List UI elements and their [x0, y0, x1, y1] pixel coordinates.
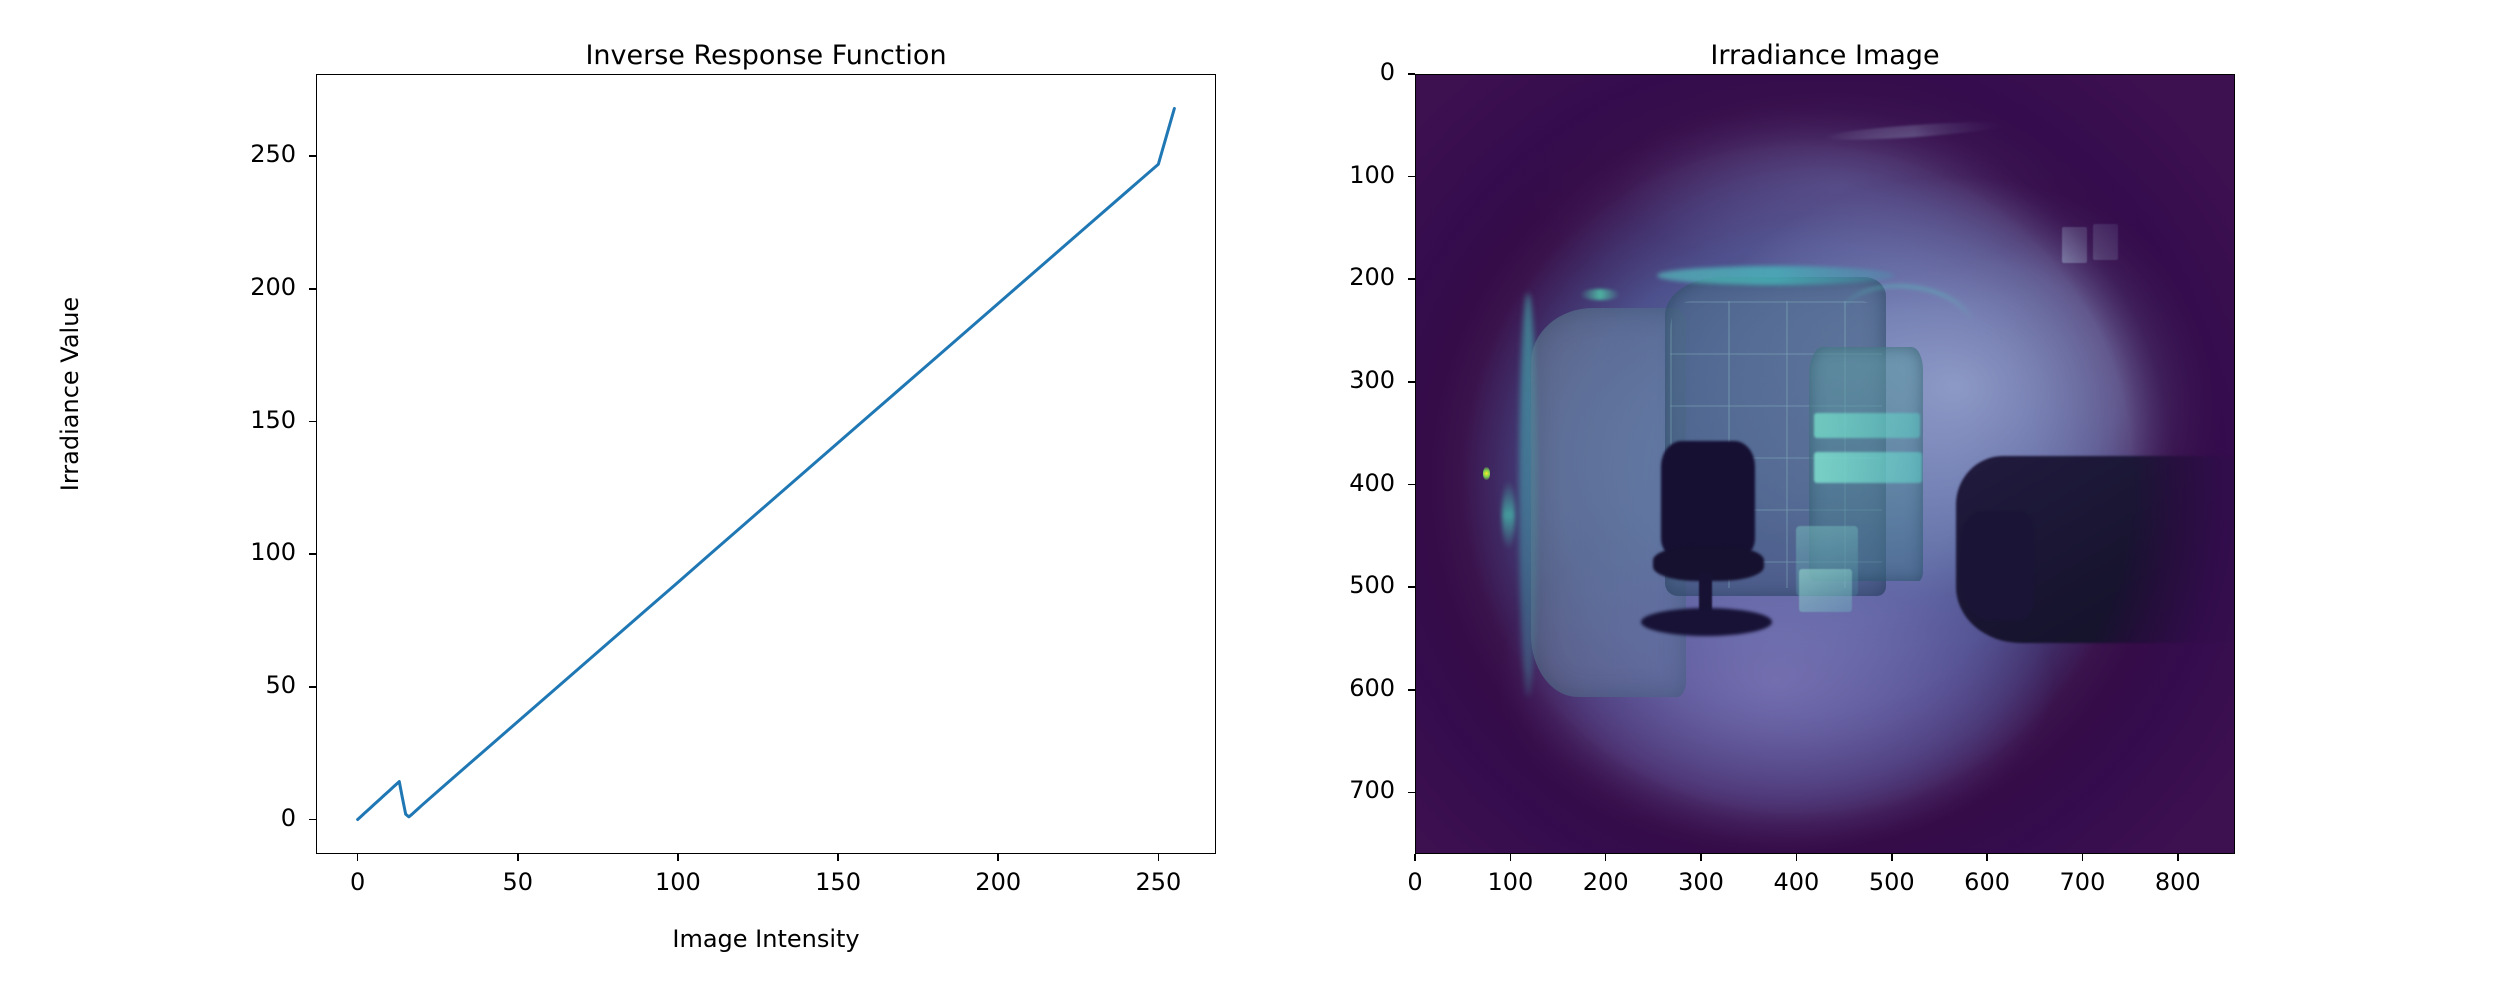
- right-x-tickmark: [1986, 854, 1988, 861]
- right-y-tick: 500: [1285, 571, 1395, 599]
- inverse-response-line-chart: [316, 74, 1216, 854]
- left-x-tickmark: [677, 854, 679, 861]
- right-y-tickmark: [1408, 73, 1415, 75]
- left-x-tick: 100: [618, 868, 738, 896]
- right-y-tick: 100: [1285, 161, 1395, 189]
- matplotlib-figure: Inverse Response Function Image Intensit…: [0, 0, 2514, 986]
- response-curve-line: [358, 108, 1175, 819]
- left-y-tickmark: [309, 686, 316, 688]
- irradiance-image-axes: [1415, 74, 2235, 854]
- left-x-tick: 250: [1098, 868, 1218, 896]
- right-y-tick: 400: [1285, 469, 1395, 497]
- left-y-tickmark: [309, 155, 316, 157]
- left-x-tickmark: [357, 854, 359, 861]
- left-y-tick: 150: [186, 406, 296, 434]
- left-x-tickmark: [517, 854, 519, 861]
- left-x-tick: 0: [298, 868, 418, 896]
- right-x-tickmark: [1891, 854, 1893, 861]
- left-x-tickmark: [837, 854, 839, 861]
- left-x-tick: 200: [938, 868, 1058, 896]
- left-y-tick: 200: [186, 273, 296, 301]
- left-y-tick: 100: [186, 538, 296, 566]
- right-y-tick: 200: [1285, 263, 1395, 291]
- right-y-tickmark: [1408, 381, 1415, 383]
- right-y-tickmark: [1408, 792, 1415, 794]
- right-y-tick: 0: [1285, 58, 1395, 86]
- left-y-tickmark: [309, 553, 316, 555]
- right-y-tick: 700: [1285, 776, 1395, 804]
- right-panel-title: Irradiance Image: [1415, 40, 2235, 71]
- left-x-tick: 150: [778, 868, 898, 896]
- left-x-tickmark: [997, 854, 999, 861]
- right-y-tickmark: [1408, 484, 1415, 486]
- left-y-tickmark: [309, 288, 316, 290]
- left-panel-title: Inverse Response Function: [316, 40, 1216, 71]
- left-y-tickmark: [309, 819, 316, 821]
- left-x-axis-label: Image Intensity: [316, 925, 1216, 953]
- right-x-tickmark: [1510, 854, 1512, 861]
- left-y-tick: 250: [186, 140, 296, 168]
- irradiance-image: [1415, 74, 2235, 854]
- left-y-axis-label: Irradiance Value: [56, 264, 84, 524]
- left-y-tickmark: [309, 421, 316, 423]
- left-y-tick: 0: [186, 804, 296, 832]
- right-y-tickmark: [1408, 689, 1415, 691]
- right-x-tickmark: [1700, 854, 1702, 861]
- left-y-tick: 50: [186, 671, 296, 699]
- inverse-response-axes: [316, 74, 1216, 854]
- left-x-tick: 50: [458, 868, 578, 896]
- image-corner-falloff: [1416, 75, 2234, 853]
- right-x-tickmark: [1414, 854, 1416, 861]
- right-y-tick: 600: [1285, 674, 1395, 702]
- right-y-tickmark: [1408, 176, 1415, 178]
- right-y-tickmark: [1408, 278, 1415, 280]
- right-x-tickmark: [1796, 854, 1798, 861]
- right-x-tickmark: [2082, 854, 2084, 861]
- right-x-tickmark: [1605, 854, 1607, 861]
- right-x-tick: 800: [2118, 868, 2238, 896]
- right-y-tick: 300: [1285, 366, 1395, 394]
- left-x-tickmark: [1158, 854, 1160, 861]
- right-x-tickmark: [2177, 854, 2179, 861]
- right-y-tickmark: [1408, 586, 1415, 588]
